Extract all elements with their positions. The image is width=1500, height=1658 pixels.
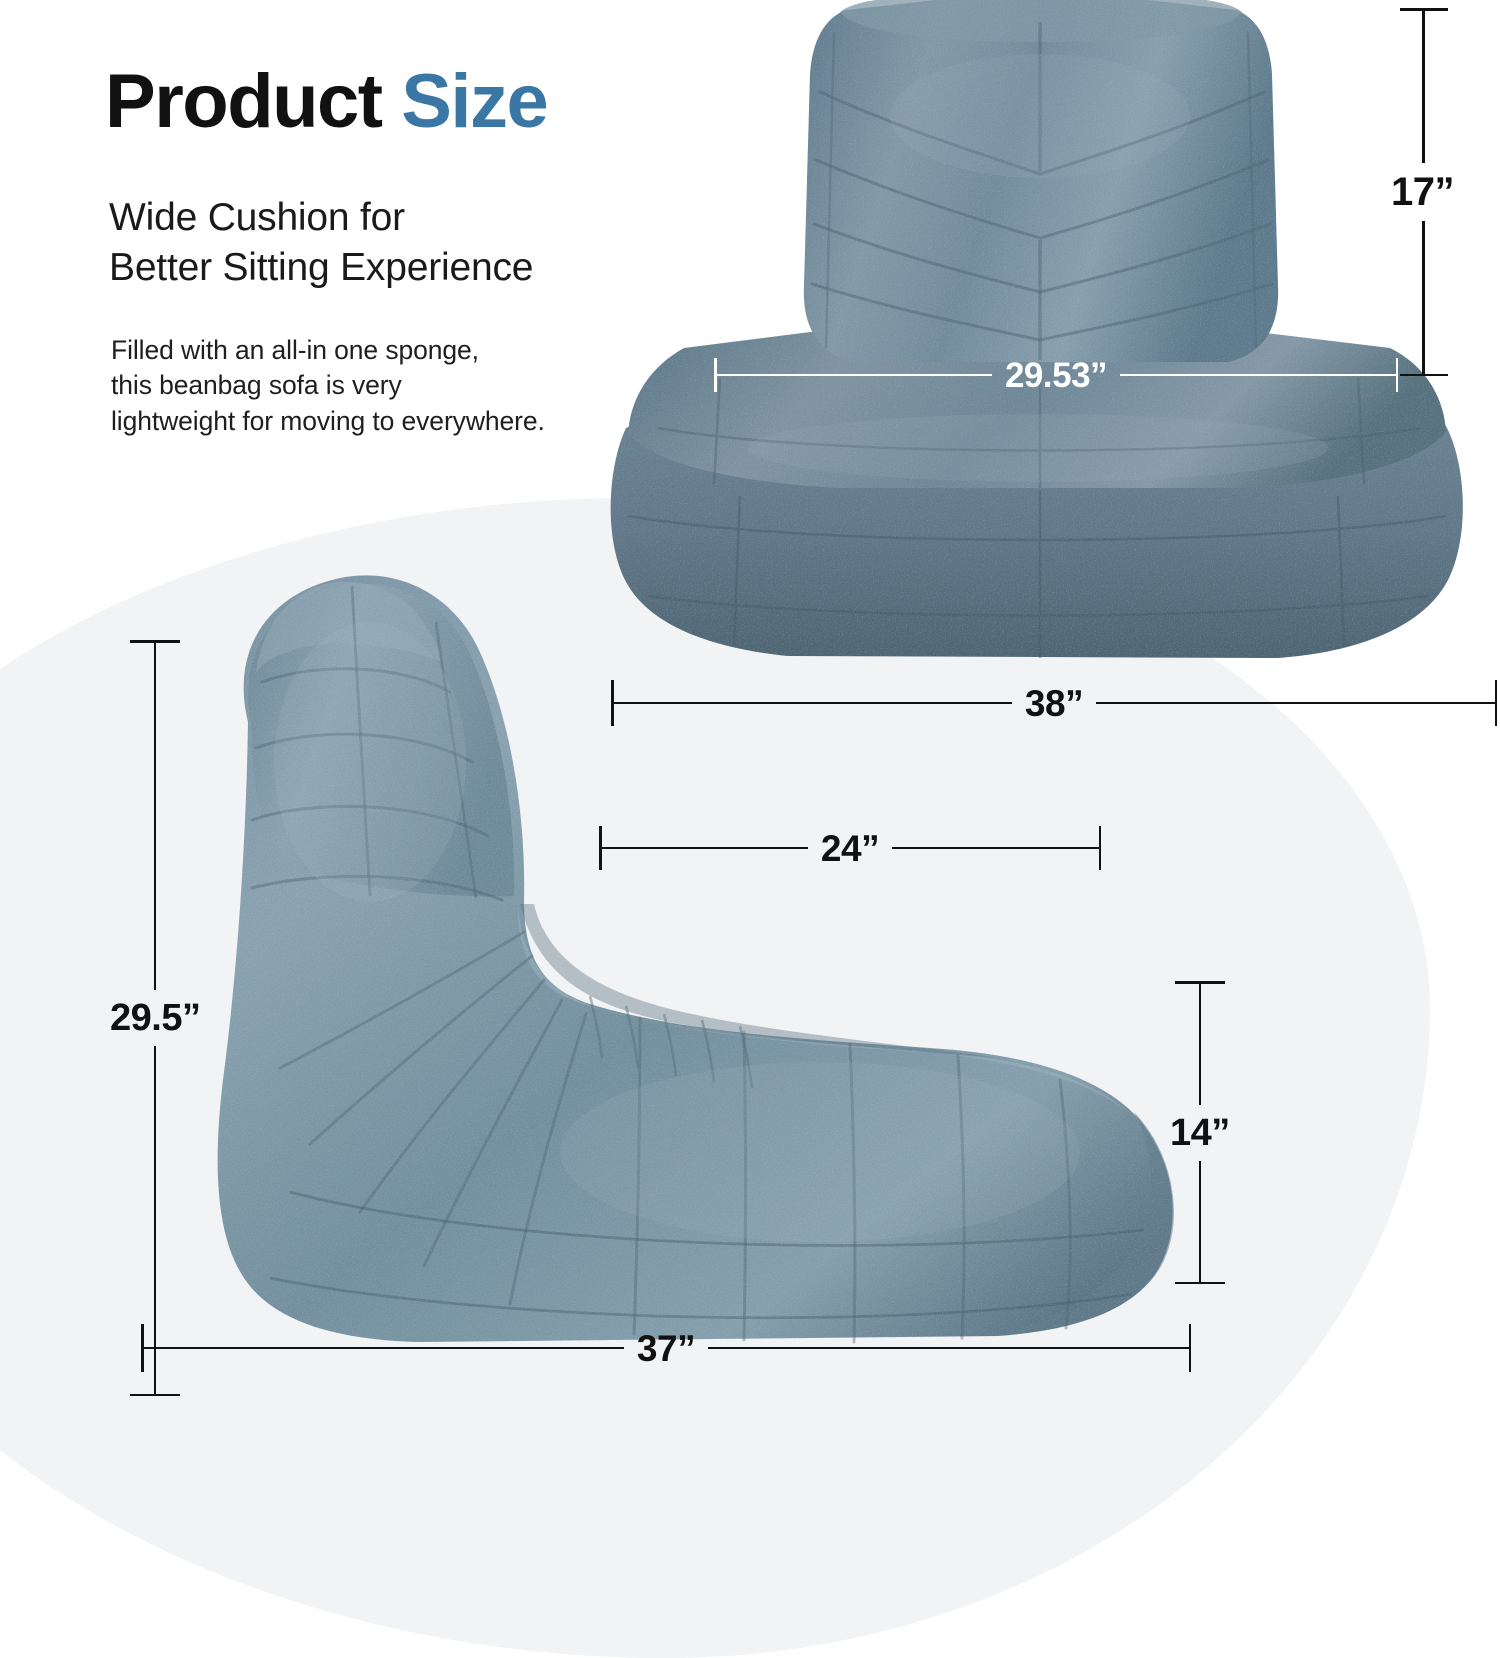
dimension-rule-left [717, 374, 992, 377]
beanbag-sofa-side-view-image [120, 552, 1230, 1364]
dimension-cap-bottom [130, 1394, 180, 1397]
dimension-rule-left [144, 1347, 624, 1350]
dimension-overall-depth: 37” [141, 1336, 1191, 1360]
body-copy-line-3: lightweight for moving to everywhere. [111, 404, 547, 440]
dimension-rule-right [708, 1347, 1188, 1350]
dimension-rule-upper [1199, 984, 1202, 1105]
dimension-cap-right [1099, 826, 1102, 870]
body-copy-line-2: this beanbag sofa is very [111, 368, 547, 404]
subheading-line-2: Better Sitting Experience [109, 243, 547, 293]
body-copy-line-1: Filled with an all-in one sponge, [111, 333, 547, 369]
page-title-primary: Product [105, 59, 401, 144]
dimension-rule-lower [1199, 1161, 1202, 1282]
dimension-rule-upper [1422, 11, 1425, 164]
dimension-overall-height: 29.5” [110, 640, 200, 1396]
dimension-label-37: 37” [624, 1330, 708, 1367]
subheading-line-1: Wide Cushion for [109, 193, 547, 243]
dimension-cap-right [1396, 358, 1399, 392]
dimension-rule-right [1120, 374, 1395, 377]
dimension-cap-bottom [1400, 374, 1448, 377]
page-title: Product Size [105, 62, 547, 141]
dimension-cap-bottom [1175, 1282, 1225, 1285]
dimension-rule-upper [154, 643, 157, 991]
subheading: Wide Cushion for Better Sitting Experien… [109, 193, 547, 293]
dimension-label-24: 24” [808, 830, 892, 867]
dimension-label-29-5: 29.5” [110, 990, 200, 1046]
dimension-label-29-53: 29.53” [992, 358, 1120, 393]
dimension-label-38: 38” [1012, 685, 1096, 722]
dimension-rule-left [602, 847, 808, 850]
dimension-rule-left [614, 702, 1012, 705]
dimension-label-14: 14” [1170, 1105, 1230, 1161]
dimension-seat-width: 29.53” [714, 362, 1398, 388]
dimension-rule-right [1096, 702, 1494, 705]
dimension-cap-right [1495, 680, 1498, 726]
dimension-label-17: 17” [1391, 163, 1454, 221]
dimension-seat-height: 14” [1170, 981, 1230, 1284]
body-copy: Filled with an all-in one sponge, this b… [111, 333, 547, 440]
dimension-cap-right [1189, 1324, 1192, 1372]
dimension-overall-width: 38” [611, 690, 1497, 716]
dimension-rule-right [892, 847, 1098, 850]
dimension-rule-lower [1422, 221, 1425, 374]
dimension-seat-depth: 24” [599, 836, 1101, 860]
intro-text-block: Product Size Wide Cushion for Better Sit… [105, 62, 547, 439]
dimension-height-back: 17” [1392, 8, 1455, 376]
page-title-accent: Size [401, 59, 547, 144]
